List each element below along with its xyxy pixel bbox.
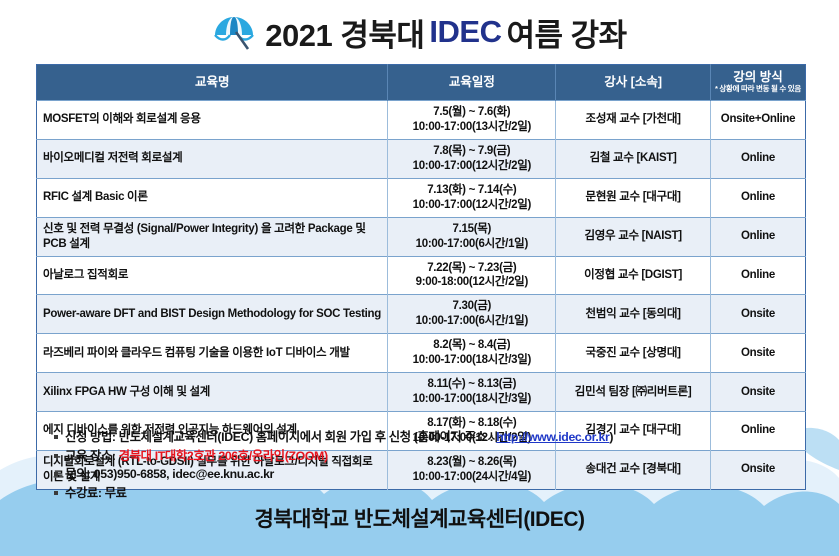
cell-instructor: 천범익 교수 [동의대] (556, 295, 711, 334)
cell-course-name: 아날로그 집적회로 (37, 256, 388, 295)
schedule-time: 10:00-17:00(18시간/3일) (394, 353, 549, 368)
schedule-date: 7.22(목) ~ 7.23(금) (427, 262, 516, 274)
cell-instructor: 김철 교수 [KAIST] (556, 139, 711, 178)
cell-mode: Onsite+Online (710, 101, 805, 140)
schedule-time: 9:00-18:00(12시간/2일) (394, 275, 549, 290)
note-application-tail: ) (609, 430, 613, 444)
column-header-mode: 강의 방식 * 상황에 따라 변동 될 수 있음 (710, 65, 805, 101)
cell-instructor: 문현원 교수 [대구대] (556, 178, 711, 217)
cell-instructor: 이정협 교수 [DGIST] (556, 256, 711, 295)
note-location-label: 교육 장소: (65, 449, 119, 463)
cell-schedule: 7.15(목)10:00-17:00(6시간/1일) (388, 217, 556, 256)
cell-course-name: 신호 및 전력 무결성 (Signal/Power Integrity) 을 고… (37, 217, 388, 256)
schedule-time: 10:00-17:00(13시간/2일) (394, 120, 549, 135)
note-application-text: 신청 방법: 반도체설계교육센터(IDEC) 홈페이지에서 회원 가입 후 신청… (65, 428, 613, 447)
footer-organization: 경북대학교 반도체설계교육센터(IDEC) (0, 503, 839, 533)
note-item-contact: 문의: 053)950-6858, idec@ee.knu.ac.kr (54, 465, 814, 484)
cell-schedule: 7.30(금)10:00-17:00(6시간/1일) (388, 295, 556, 334)
schedule-time: 10:00-17:00(6시간/1일) (394, 314, 549, 329)
schedule-time: 10:00-17:00(12시간/2일) (394, 198, 549, 213)
cell-schedule: 7.5(월) ~ 7.6(화)10:00-17:00(13시간/2일) (388, 101, 556, 140)
note-item-fee: 수강료: 무료 (54, 484, 814, 503)
parasol-icon (212, 12, 256, 52)
note-application-label: 신청 방법: 반도체설계교육센터(IDEC) 홈페이지에서 회원 가입 후 신청… (65, 430, 496, 444)
cell-mode: Onsite (710, 334, 805, 373)
title-prefix: 2021 경북대 (265, 10, 424, 55)
cell-mode: Onsite (710, 373, 805, 412)
schedule-date: 7.15(목) (453, 223, 492, 235)
note-fee-text: 수강료: 무료 (65, 484, 127, 503)
schedule-time: 10:00-17:00(6시간/1일) (394, 237, 549, 252)
course-table-container: 교육명 교육일정 강사 [소속] 강의 방식 * 상황에 따라 변동 될 수 있… (36, 64, 806, 490)
schedule-date: 8.11(수) ~ 8.13(금) (428, 378, 517, 390)
cell-schedule: 8.2(목) ~ 8.4(금)10:00-17:00(18시간/3일) (388, 334, 556, 373)
cell-schedule: 7.8(목) ~ 7.9(금)10:00-17:00(12시간/2일) (388, 139, 556, 178)
bullet-icon (54, 435, 58, 439)
cell-mode: Online (710, 139, 805, 178)
cell-course-name: 바이오메디컬 저전력 회로설계 (37, 139, 388, 178)
page-title: 2021 경북대 IDEC 여름 강좌 (0, 6, 839, 58)
bullet-icon (54, 491, 58, 495)
schedule-date: 7.30(금) (453, 300, 492, 312)
schedule-date: 7.8(목) ~ 7.9(금) (433, 145, 510, 157)
schedule-time: 10:00-17:00(18시간/3일) (394, 392, 549, 407)
cell-course-name: MOSFET의 이해와 회로설계 응용 (37, 101, 388, 140)
table-row: Power-aware DFT and BIST Design Methodol… (37, 295, 806, 334)
cell-course-name: RFIC 설계 Basic 이론 (37, 178, 388, 217)
table-row: RFIC 설계 Basic 이론7.13(화) ~ 7.14(수)10:00-1… (37, 178, 806, 217)
cell-schedule: 7.13(화) ~ 7.14(수)10:00-17:00(12시간/2일) (388, 178, 556, 217)
table-row: Xilinx FPGA HW 구성 이해 및 설계8.11(수) ~ 8.13(… (37, 373, 806, 412)
title-brand-text: IDEC (429, 14, 501, 50)
note-location-text: 교육 장소: 경북대 IT대학2호관 206호/온라인(ZOOM) (65, 447, 328, 466)
table-header-row: 교육명 교육일정 강사 [소속] 강의 방식 * 상황에 따라 변동 될 수 있… (37, 65, 806, 101)
schedule-date: 7.13(화) ~ 7.14(수) (427, 184, 516, 196)
course-schedule-table: 교육명 교육일정 강사 [소속] 강의 방식 * 상황에 따라 변동 될 수 있… (36, 64, 806, 490)
table-row: 아날로그 집적회로7.22(목) ~ 7.23(금)9:00-18:00(12시… (37, 256, 806, 295)
idec-homepage-link[interactable]: http://www.idec.or.kr (496, 430, 609, 444)
column-header-mode-main: 강의 방식 (733, 70, 782, 84)
table-row: 신호 및 전력 무결성 (Signal/Power Integrity) 을 고… (37, 217, 806, 256)
notes-list: 신청 방법: 반도체설계교육센터(IDEC) 홈페이지에서 회원 가입 후 신청… (54, 428, 814, 503)
schedule-date: 7.5(월) ~ 7.6(화) (433, 106, 510, 118)
cell-instructor: 국중진 교수 [상명대] (556, 334, 711, 373)
table-row: 라즈베리 파이와 클라우드 컴퓨팅 기술을 이용한 IoT 디바이스 개발8.2… (37, 334, 806, 373)
cell-instructor: 김영우 교수 [NAIST] (556, 217, 711, 256)
note-contact-text: 문의: 053)950-6858, idec@ee.knu.ac.kr (65, 465, 274, 484)
table-header: 교육명 교육일정 강사 [소속] 강의 방식 * 상황에 따라 변동 될 수 있… (37, 65, 806, 101)
cell-mode: Onsite (710, 295, 805, 334)
cell-mode: Online (710, 256, 805, 295)
column-header-course-name: 교육명 (37, 65, 388, 101)
schedule-date: 8.2(목) ~ 8.4(금) (433, 339, 510, 351)
cell-course-name: Power-aware DFT and BIST Design Methodol… (37, 295, 388, 334)
cell-instructor: 조성재 교수 [가천대] (556, 101, 711, 140)
cell-instructor: 김민석 팀장 [㈜리버트론] (556, 373, 711, 412)
note-item-location: 교육 장소: 경북대 IT대학2호관 206호/온라인(ZOOM) (54, 447, 814, 466)
title-brand-idec: IDEC (429, 14, 501, 50)
column-header-instructor: 강사 [소속] (556, 65, 711, 101)
title-suffix: 여름 강좌 (507, 10, 627, 55)
note-location-value: 경북대 IT대학2호관 206호/온라인(ZOOM) (119, 449, 328, 463)
cell-mode: Online (710, 217, 805, 256)
cell-course-name: 라즈베리 파이와 클라우드 컴퓨팅 기술을 이용한 IoT 디바이스 개발 (37, 334, 388, 373)
cell-mode: Online (710, 178, 805, 217)
bullet-icon (54, 454, 58, 458)
table-row: 바이오메디컬 저전력 회로설계7.8(목) ~ 7.9(금)10:00-17:0… (37, 139, 806, 178)
cell-schedule: 8.11(수) ~ 8.13(금)10:00-17:00(18시간/3일) (388, 373, 556, 412)
column-header-mode-note: * 상황에 따라 변동 될 수 있음 (713, 85, 803, 94)
cell-course-name: Xilinx FPGA HW 구성 이해 및 설계 (37, 373, 388, 412)
note-item-application: 신청 방법: 반도체설계교육센터(IDEC) 홈페이지에서 회원 가입 후 신청… (54, 428, 814, 447)
bullet-icon (54, 472, 58, 476)
cell-schedule: 7.22(목) ~ 7.23(금)9:00-18:00(12시간/2일) (388, 256, 556, 295)
table-row: MOSFET의 이해와 회로설계 응용7.5(월) ~ 7.6(화)10:00-… (37, 101, 806, 140)
column-header-schedule: 교육일정 (388, 65, 556, 101)
schedule-time: 10:00-17:00(12시간/2일) (394, 159, 549, 174)
